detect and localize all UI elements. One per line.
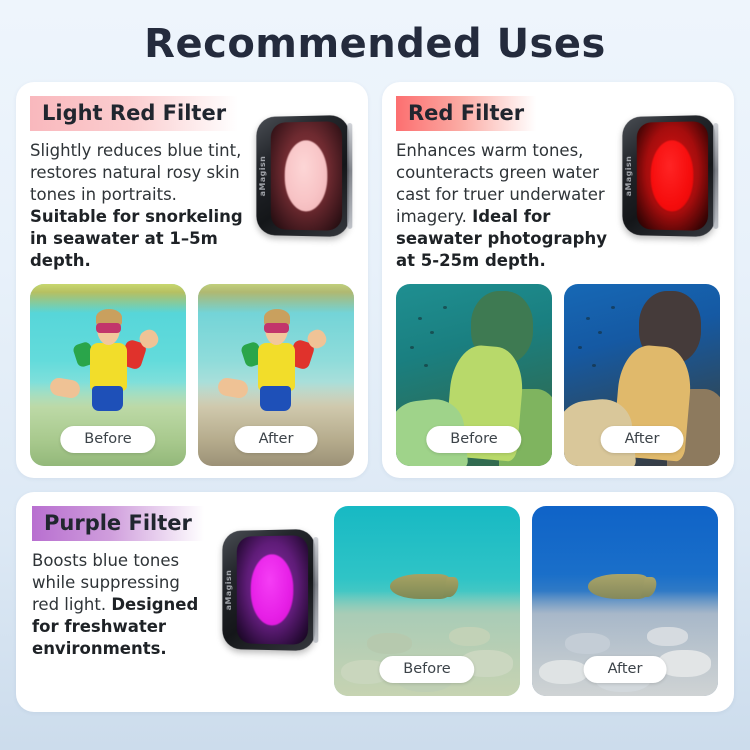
rock: [658, 650, 710, 677]
filter-card-light-red[interactable]: Light Red Filter Slightly reduces blue t…: [16, 82, 368, 478]
after-photo[interactable]: After: [198, 284, 354, 466]
goggles: [96, 323, 121, 333]
page-title: Recommended Uses: [0, 0, 750, 66]
fish-dot: [443, 306, 447, 309]
before-after-pair: Before: [30, 284, 354, 466]
card-text-column: Purple Filter Boosts blue tones while su…: [32, 506, 202, 660]
fish-figure: [390, 574, 450, 599]
lens-body: [237, 535, 308, 645]
lens-brand-label: aMagisn: [224, 570, 233, 611]
purple-lens-icon: aMagisn: [222, 529, 315, 651]
goggles: [264, 323, 289, 333]
child-figure: [74, 309, 143, 422]
rock: [647, 627, 688, 646]
filter-name-chip: Light Red Filter: [30, 96, 238, 131]
before-label: Before: [60, 426, 155, 453]
shorts: [92, 386, 124, 411]
before-after-pair: Before After: [334, 506, 718, 696]
lens-body: [271, 121, 342, 231]
child-figure: [242, 309, 311, 422]
rock: [539, 660, 587, 685]
lens-image-wrap: aMagisn: [216, 506, 320, 650]
fish-figure: [588, 574, 648, 599]
filter-name-chip: Red Filter: [396, 96, 536, 131]
fish-dot: [586, 317, 590, 320]
before-label: Before: [426, 426, 521, 453]
before-photo[interactable]: Before: [396, 284, 552, 466]
red-lens-icon: aMagisn: [622, 115, 715, 237]
after-label: After: [235, 426, 318, 453]
filter-name-chip: Purple Filter: [32, 506, 204, 541]
fish-dot: [578, 346, 582, 349]
card-header-area: Red Filter Enhances warm tones, countera…: [396, 96, 720, 272]
lens-brand-label: aMagisn: [624, 156, 633, 197]
card-text-column: Red Filter Enhances warm tones, countera…: [396, 96, 610, 272]
fish-dot: [418, 317, 422, 320]
shirt: [90, 343, 127, 390]
before-after-pair: Before After: [396, 284, 720, 466]
lens-core: [251, 554, 294, 626]
after-label: After: [584, 656, 667, 683]
cards-row-top: Light Red Filter Slightly reduces blue t…: [0, 66, 750, 478]
filter-description: Enhances warm tones, counteracts green w…: [396, 140, 610, 272]
filter-card-purple[interactable]: Purple Filter Boosts blue tones while su…: [16, 492, 734, 712]
rock: [449, 627, 490, 646]
shorts: [260, 386, 292, 411]
fish-dot: [592, 364, 596, 367]
lens-core: [651, 140, 694, 212]
fish-dot: [424, 364, 428, 367]
lens-brand-label: aMagisn: [258, 156, 267, 197]
after-photo[interactable]: After: [564, 284, 720, 466]
description-normal: Slightly reduces blue tint, restores nat…: [30, 141, 241, 204]
card-header-area: Light Red Filter Slightly reduces blue t…: [30, 96, 354, 272]
rock: [367, 633, 412, 654]
lens-body: [637, 121, 708, 231]
lens-image-wrap: aMagisn: [250, 96, 354, 236]
filter-description: Slightly reduces blue tint, restores nat…: [30, 140, 244, 272]
after-label: After: [601, 426, 684, 453]
light-red-lens-icon: aMagisn: [256, 115, 349, 237]
rock: [565, 633, 610, 654]
before-photo[interactable]: Before: [334, 506, 520, 696]
after-photo[interactable]: After: [532, 506, 718, 696]
filter-card-red[interactable]: Red Filter Enhances warm tones, countera…: [382, 82, 734, 478]
shirt: [258, 343, 295, 390]
lens-core: [285, 140, 328, 212]
lens-image-wrap: aMagisn: [616, 96, 720, 236]
fish-dot: [410, 346, 414, 349]
fish-dot: [611, 306, 615, 309]
description-bold: Suitable for snorkeling in seawater at 1…: [30, 207, 243, 270]
card-text-column: Light Red Filter Slightly reduces blue t…: [30, 96, 244, 272]
before-photo[interactable]: Before: [30, 284, 186, 466]
before-label: Before: [379, 656, 474, 683]
filter-description: Boosts blue tones while suppressing red …: [32, 550, 202, 660]
